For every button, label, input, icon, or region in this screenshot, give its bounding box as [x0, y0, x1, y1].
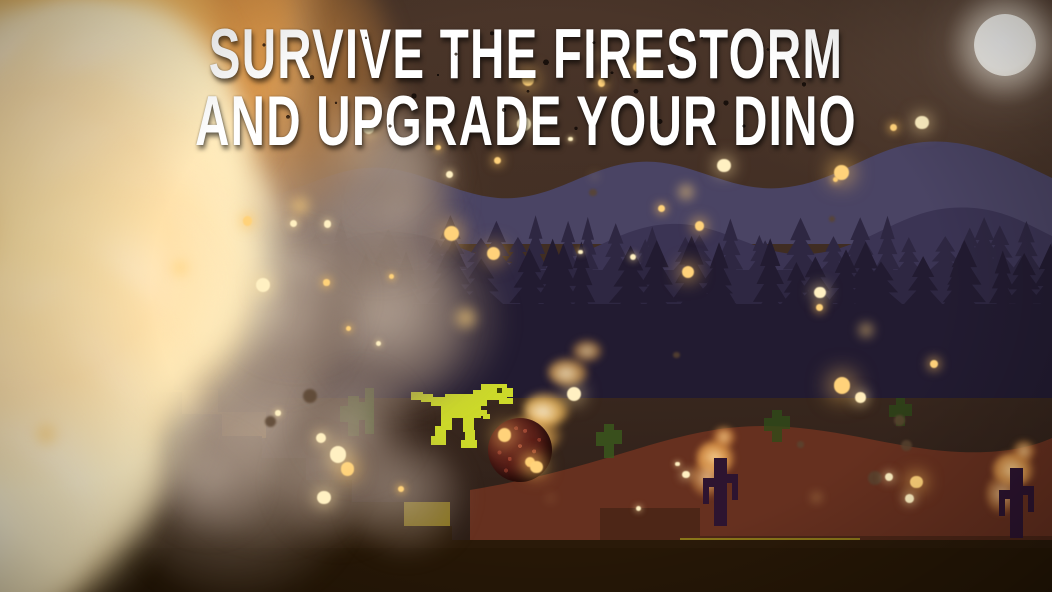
- ember-particle: [717, 159, 731, 173]
- ember-particle: [814, 287, 826, 299]
- ember-particle: [894, 415, 905, 426]
- ember-particle: [324, 220, 331, 227]
- ember-particle: [591, 173, 598, 180]
- ember-particle: [829, 216, 835, 222]
- ember-particle: [303, 389, 317, 403]
- ember-particle: [834, 377, 850, 393]
- game-screenshot: SURVIVE THE FIRESTORM AND UPGRADE YOUR D…: [0, 0, 1052, 592]
- ember-particle: [522, 73, 534, 85]
- ember-particle: [591, 51, 600, 60]
- ember-particle: [290, 220, 297, 227]
- ember-particle: [317, 491, 331, 505]
- ember-particle: [673, 352, 680, 359]
- ember-particle: [682, 266, 694, 278]
- ember-particle: [494, 157, 501, 164]
- ember-particle: [890, 124, 897, 131]
- ember-particle: [568, 137, 573, 142]
- ember-particle: [905, 494, 914, 503]
- ember-particles: [0, 0, 1052, 592]
- ember-particle: [287, 193, 313, 219]
- ember-particle: [498, 428, 512, 442]
- ember-particle: [517, 117, 531, 131]
- ember-particle: [834, 165, 849, 180]
- ember-particle: [930, 360, 938, 368]
- ember-particle: [487, 247, 500, 260]
- ember-particle: [547, 495, 553, 501]
- ember-particle: [346, 326, 351, 331]
- ember-particle: [910, 476, 922, 488]
- ember-particle: [695, 221, 705, 231]
- ember-particle: [30, 418, 62, 450]
- ember-particle: [811, 492, 823, 504]
- ember-particle: [451, 303, 481, 333]
- ember-particle: [398, 486, 404, 492]
- ember-particle: [675, 181, 697, 203]
- ember-particle: [578, 250, 583, 255]
- ember-particle: [901, 440, 912, 451]
- ember-particle: [435, 145, 441, 151]
- ember-particle: [598, 79, 606, 87]
- ember-particle: [256, 278, 270, 292]
- ember-particle: [682, 471, 690, 479]
- ember-particle: [658, 205, 665, 212]
- ember-particle: [389, 274, 394, 279]
- ember-particle: [316, 433, 327, 444]
- ember-particle: [915, 116, 929, 130]
- ember-particle: [444, 226, 459, 241]
- ember-particle: [376, 341, 381, 346]
- ember-particle: [816, 304, 823, 311]
- ember-particle: [530, 461, 542, 473]
- ember-particle: [275, 410, 281, 416]
- ember-particle: [265, 416, 277, 428]
- ember-particle: [446, 171, 453, 178]
- ember-particle: [323, 279, 329, 285]
- ember-particle: [787, 100, 801, 114]
- ember-particle: [589, 189, 597, 197]
- ember-particle: [630, 254, 636, 260]
- ember-particle: [675, 462, 680, 467]
- ember-particle: [330, 446, 346, 462]
- ember-particle: [341, 462, 355, 476]
- ember-particle: [855, 392, 865, 402]
- ember-particle: [243, 216, 252, 225]
- ember-particle: [363, 123, 374, 134]
- ember-particle: [885, 473, 893, 481]
- ember-particle: [636, 506, 641, 511]
- ember-particle: [168, 256, 192, 280]
- ember-particle: [633, 62, 643, 72]
- ember-particle: [797, 441, 803, 447]
- ember-particle: [567, 387, 581, 401]
- ember-particle: [868, 471, 882, 485]
- ember-particle: [856, 320, 876, 340]
